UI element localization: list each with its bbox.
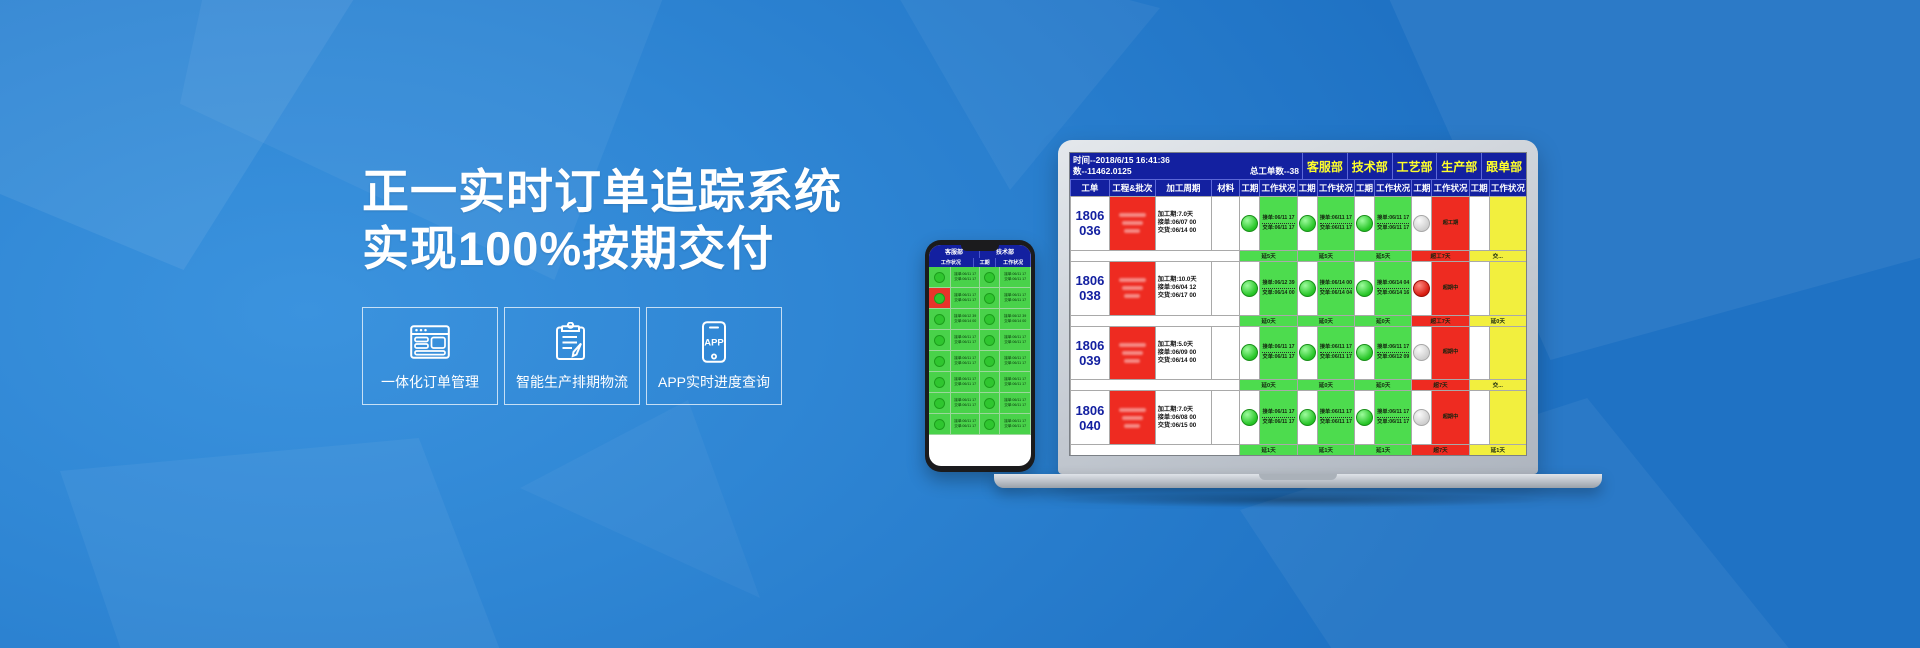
bg-polygon — [60, 438, 520, 648]
phone-status-text-cell: 接单:06/11 17交单:06/11 17 — [1000, 372, 1031, 392]
status-dot-green — [934, 419, 945, 430]
table-row-footer: 延5天延5天延5天超工7天交... — [1070, 250, 1526, 261]
work-status-cell: 接单:06/11 17交单:06/12 09 — [1374, 327, 1411, 380]
processing-cycle-cell: 加工期:5.0天接单:06/09 00交货:06/14 00 — [1155, 327, 1211, 380]
work-status-text: 接单:06/14 04交单:06/14 16 — [1375, 280, 1411, 297]
status-dot-green — [1356, 215, 1373, 232]
phone-status-dot-cell — [929, 393, 951, 413]
delay-summary-text: 交... — [1493, 252, 1503, 260]
delay-summary-text: 延5天 — [1261, 252, 1275, 260]
meta-count: 数--11462.0125 — [1073, 166, 1132, 177]
footer-spacer — [1070, 380, 1239, 390]
phone-row[interactable]: 接单:06/11 17交单:06/11 17接单:06/11 17交单:06/1… — [929, 267, 1031, 288]
column-title: 工作状况 — [1317, 179, 1354, 196]
work-status-text: 接单:06/11 17交单:06/11 17 — [1260, 215, 1296, 232]
work-status-cell: 接单:06/11 17交单:06/11 17 — [1317, 197, 1354, 250]
phone-status-dot-cell — [929, 288, 951, 308]
work-status-cell: 超期中 — [1431, 262, 1468, 315]
order-number-cell: 1806038 — [1070, 262, 1109, 315]
phone-status-dot-cell — [929, 267, 951, 287]
work-status-cell — [1489, 262, 1526, 315]
delay-summary-cell: 延1天 — [1239, 445, 1296, 455]
work-status-cell: 接单:06/14 04交单:06/14 16 — [1374, 262, 1411, 315]
phone-status-text-cell: 接单:06/12 39交单:06/14 00 — [1000, 309, 1031, 329]
work-status-text: 超工期 — [1432, 220, 1468, 227]
material-cell — [1211, 262, 1239, 315]
lead-time-cell — [1297, 262, 1317, 315]
phone-status-text-cell: 接单:06/11 17交单:06/11 17 — [1000, 330, 1031, 350]
lead-time-cell — [1239, 327, 1259, 380]
phone-status-text: 接单:06/11 17交单:06/11 17 — [1000, 356, 1030, 366]
status-dot-green — [1241, 344, 1258, 361]
lead-time-cell — [1411, 327, 1431, 380]
work-status-cell: 接单:06/11 17交单:06/11 17 — [1259, 327, 1296, 380]
bg-polygon — [520, 400, 760, 620]
phone-status-text-cell: 接单:06/11 17交单:06/11 17 — [1000, 351, 1031, 371]
status-dot-green — [1356, 344, 1373, 361]
work-status-cell: 接单:06/11 17交单:06/11 17 — [1317, 327, 1354, 380]
phone-status-text: 接单:06/11 17交单:06/11 17 — [1000, 272, 1030, 282]
phone-column-header: 工作状况 工期 工作状况 — [929, 258, 1031, 267]
department-title: 客服部 — [1302, 153, 1347, 179]
phone-status-text: 接单:06/11 17交单:06/11 17 — [1000, 377, 1030, 387]
delay-summary-text: 延1天 — [1491, 446, 1505, 454]
lead-time-cell — [1411, 391, 1431, 444]
column-title: 工期 — [1469, 179, 1489, 196]
lead-time-cell — [1411, 197, 1431, 250]
phone-status-dot-cell — [980, 414, 1000, 434]
lead-time-cell — [1411, 262, 1431, 315]
work-status-text: 超期中 — [1432, 285, 1468, 292]
status-dot-green — [984, 419, 995, 430]
work-status-text: 接单:06/11 17交单:06/11 17 — [1318, 344, 1354, 361]
delay-summary-text: 延0天 — [1491, 317, 1505, 325]
feature-label: APP实时进度查询 — [658, 372, 770, 392]
table-row[interactable]: 1806039加工期:5.0天接单:06/09 00交货:06/14 00接单:… — [1070, 326, 1526, 380]
processing-cycle-cell: 加工期:7.0天接单:06/07 00交货:06/14 00 — [1155, 197, 1211, 250]
column-title: 工作状况 — [1374, 179, 1411, 196]
delay-summary-text: 超7天 — [1433, 446, 1447, 454]
phone-status-dot-cell — [980, 351, 1000, 371]
work-status-cell — [1489, 391, 1526, 444]
work-status-cell: 接单:06/11 17交单:06/11 17 — [1259, 197, 1296, 250]
delay-summary-text: 超工7天 — [1431, 252, 1451, 260]
delay-summary-cell: 延0天 — [1239, 380, 1296, 390]
status-dot-grey — [1413, 409, 1430, 426]
lead-time-cell — [1354, 391, 1374, 444]
table-row-footer: 延0天延0天延0天超工7天延0天 — [1070, 315, 1526, 326]
laptop-base — [994, 474, 1602, 488]
work-status-text: 超期中 — [1432, 349, 1468, 356]
delay-summary-text: 延0天 — [1261, 317, 1275, 325]
phone-status-dot-cell — [929, 330, 951, 350]
delay-summary-text: 延5天 — [1376, 252, 1390, 260]
lead-time-cell — [1239, 197, 1259, 250]
table-row-footer: 延1天延1天延1天超7天延1天 — [1070, 444, 1526, 455]
work-status-text: 接单:06/14 00交单:06/14 04 — [1318, 280, 1354, 297]
delay-summary-text: 延1天 — [1376, 446, 1390, 454]
delay-summary-cell: 交... — [1469, 251, 1526, 261]
delay-summary-text: 延0天 — [1376, 317, 1390, 325]
material-cell — [1211, 391, 1239, 444]
delay-summary-cell: 超7天 — [1411, 445, 1468, 455]
feature-label: 一体化订单管理 — [381, 372, 479, 392]
phone-status-text-cell: 接单:06/12 39交单:06/14 00 — [951, 309, 980, 329]
status-dot-green — [984, 293, 995, 304]
delay-summary-cell: 延0天 — [1239, 316, 1296, 326]
delay-summary-text: 交... — [1493, 381, 1503, 389]
feature-card-app-progress[interactable]: APP APP实时进度查询 — [646, 307, 782, 405]
phone-screen[interactable]: 客服部 技术部 工作状况 工期 工作状况 接单:06/11 17交单:06/11… — [929, 245, 1031, 466]
status-dot-green — [984, 314, 995, 325]
phone-notch — [961, 244, 999, 251]
phone-col: 工期 — [974, 258, 996, 267]
feature-list: 一体化订单管理 智能生产排期物流 — [362, 307, 882, 405]
phone-status-dot-cell — [929, 351, 951, 371]
feature-label: 智能生产排期物流 — [516, 372, 628, 392]
dashboard-row-list: 1806036加工期:7.0天接单:06/07 00交货:06/14 00接单:… — [1070, 196, 1526, 455]
order-tracking-dashboard: 时间--2018/6/15 16:41:36 数--11462.0125 总工单… — [1070, 153, 1526, 455]
work-status-cell: 超工期 — [1431, 197, 1468, 250]
work-status-text: 接单:06/12 39交单:06/14 00 — [1260, 280, 1296, 297]
phone-status-dot-cell — [929, 372, 951, 392]
department-header-group: 客服部技术部工艺部生产部跟单部 — [1302, 153, 1526, 179]
work-status-cell: 接单:06/12 39交单:06/14 00 — [1259, 262, 1296, 315]
phone-status-dot-cell — [929, 414, 951, 434]
phone-status-text-cell: 接单:06/11 17交单:06/11 17 — [951, 330, 980, 350]
lead-time-cell — [1469, 327, 1489, 380]
headline-line-2: 实现100%按期交付 — [362, 222, 882, 275]
status-dot-green — [984, 377, 995, 388]
phone-status-dot-cell — [980, 393, 1000, 413]
lead-time-cell — [1354, 262, 1374, 315]
phone-status-text-cell: 接单:06/11 17交单:06/11 17 — [1000, 414, 1031, 434]
project-batch-cell — [1109, 197, 1155, 250]
status-dot-green — [934, 314, 945, 325]
delay-summary-cell: 延0天 — [1297, 316, 1354, 326]
processing-cycle-cell: 加工期:7.0天接单:06/08 00交货:06/15 00 — [1155, 391, 1211, 444]
phone-status-dot-cell — [980, 372, 1000, 392]
work-status-cell: 超期中 — [1431, 391, 1468, 444]
status-dot-grey — [1413, 344, 1430, 361]
work-status-text: 接单:06/11 17交单:06/11 17 — [1318, 409, 1354, 426]
phone-status-text: 接单:06/11 17交单:06/11 17 — [1000, 293, 1030, 303]
headline-line-1: 正一实时订单追踪系统 — [362, 165, 882, 218]
lead-time-cell — [1354, 327, 1374, 380]
work-status-cell: 接单:06/14 00交单:06/14 04 — [1317, 262, 1354, 315]
delay-summary-text: 延0天 — [1261, 381, 1275, 389]
status-dot-green — [1356, 409, 1373, 426]
column-title: 加工周期 — [1155, 179, 1211, 196]
delay-summary-text: 延1天 — [1319, 446, 1333, 454]
phone-status-text-cell: 接单:06/11 17交单:06/11 17 — [951, 267, 980, 287]
status-dot-green — [1299, 409, 1316, 426]
meta-time: 时间--2018/6/15 16:41:36 — [1073, 155, 1299, 166]
phone-row[interactable]: 接单:06/11 17交单:06/11 17接单:06/11 17交单:06/1… — [929, 351, 1031, 372]
status-dot-green — [934, 272, 945, 283]
phone-status-text-cell: 接单:06/11 17交单:06/11 17 — [951, 414, 980, 434]
phone-status-text-cell: 接单:06/11 17交单:06/11 17 — [1000, 288, 1031, 308]
feature-card-order-management[interactable]: 一体化订单管理 — [362, 307, 498, 405]
department-title: 跟单部 — [1481, 153, 1526, 179]
lead-time-cell — [1239, 262, 1259, 315]
phone-status-text: 接单:06/11 17交单:06/11 17 — [951, 398, 979, 408]
status-dot-green — [1299, 344, 1316, 361]
laptop-mockup: 时间--2018/6/15 16:41:36 数--11462.0125 总工单… — [1058, 140, 1602, 488]
phone-row[interactable]: 接单:06/11 17交单:06/11 17接单:06/11 17交单:06/1… — [929, 288, 1031, 309]
work-status-text: 接单:06/11 17交单:06/11 17 — [1375, 215, 1411, 232]
project-batch-cell — [1109, 327, 1155, 380]
meta-total: 总工单数--38 — [1250, 166, 1299, 177]
phone-status-text-cell: 接单:06/11 17交单:06/11 17 — [1000, 267, 1031, 287]
banner-copy: 正一实时订单追踪系统 实现100%按期交付 — [362, 165, 882, 405]
lead-time-cell — [1297, 391, 1317, 444]
footer-spacer — [1070, 316, 1239, 326]
phone-status-text: 接单:06/12 39交单:06/14 00 — [1000, 314, 1030, 324]
laptop-screen[interactable]: 时间--2018/6/15 16:41:36 数--11462.0125 总工单… — [1069, 152, 1527, 456]
column-title: 工程&批次 — [1109, 179, 1155, 196]
delay-summary-cell: 延0天 — [1354, 316, 1411, 326]
status-dot-green — [1241, 215, 1258, 232]
phone-status-text: 接单:06/11 17交单:06/11 17 — [1000, 419, 1030, 429]
phone-col: 工作状况 — [929, 258, 974, 267]
table-row[interactable]: 1806040加工期:7.0天接单:06/08 00交货:06/15 00接单:… — [1070, 390, 1526, 444]
lead-time-cell — [1469, 197, 1489, 250]
phone-row[interactable]: 接单:06/11 17交单:06/11 17接单:06/11 17交单:06/1… — [929, 330, 1031, 351]
work-status-text: 接单:06/11 17交单:06/11 17 — [1318, 215, 1354, 232]
work-status-text: 接单:06/11 17交单:06/11 17 — [1375, 409, 1411, 426]
work-status-text: 接单:06/11 17交单:06/11 17 — [1260, 344, 1296, 361]
lead-time-cell — [1297, 327, 1317, 380]
order-number-cell: 1806039 — [1070, 327, 1109, 380]
delay-summary-cell: 延0天 — [1297, 380, 1354, 390]
phone-status-text: 接单:06/12 39交单:06/14 00 — [951, 314, 979, 324]
phone-status-dot-cell — [980, 330, 1000, 350]
phone-status-dot-cell — [929, 309, 951, 329]
status-dot-green — [1299, 215, 1316, 232]
material-cell — [1211, 197, 1239, 250]
status-dot-green — [934, 377, 945, 388]
project-batch-cell — [1109, 262, 1155, 315]
delay-summary-cell: 延1天 — [1354, 445, 1411, 455]
column-title: 工作状况 — [1259, 179, 1296, 196]
work-status-cell: 接单:06/11 17交单:06/11 17 — [1374, 391, 1411, 444]
dashboard-column-header: 工单工程&批次加工周期材料工期工作状况工期工作状况工期工作状况工期工作状况工期工… — [1070, 179, 1526, 196]
status-dot-green — [934, 293, 945, 304]
lead-time-cell — [1239, 391, 1259, 444]
status-dot-green — [934, 356, 945, 367]
laptop-lid: 时间--2018/6/15 16:41:36 数--11462.0125 总工单… — [1058, 140, 1538, 474]
dashboard-header: 时间--2018/6/15 16:41:36 数--11462.0125 总工单… — [1070, 153, 1526, 179]
promo-banner: 正一实时订单追踪系统 实现100%按期交付 — [0, 0, 1920, 648]
delay-summary-text: 超7天 — [1433, 381, 1447, 389]
footer-spacer — [1070, 445, 1239, 455]
phone-status-text: 接单:06/11 17交单:06/11 17 — [1000, 335, 1030, 345]
mobile-app-icon: APP — [699, 320, 729, 364]
work-status-cell: 超期中 — [1431, 327, 1468, 380]
phone-status-text-cell: 接单:06/11 17交单:06/11 17 — [951, 393, 980, 413]
status-dot-green — [984, 356, 995, 367]
status-dot-green — [934, 398, 945, 409]
work-status-cell: 接单:06/11 17交单:06/11 17 — [1259, 391, 1296, 444]
phone-status-text: 接单:06/11 17交单:06/11 17 — [951, 356, 979, 366]
lead-time-cell — [1297, 197, 1317, 250]
phone-status-text: 接单:06/11 17交单:06/11 17 — [951, 272, 979, 282]
status-dot-green — [1241, 409, 1258, 426]
phone-status-dot-cell — [980, 267, 1000, 287]
work-status-text: 超期中 — [1432, 414, 1468, 421]
work-status-text: 接单:06/11 17交单:06/12 09 — [1375, 344, 1411, 361]
status-dot-green — [934, 335, 945, 346]
phone-col: 工作状况 — [996, 258, 1031, 267]
feature-card-production-schedule[interactable]: 智能生产排期物流 — [504, 307, 640, 405]
order-number-cell: 1806036 — [1070, 197, 1109, 250]
lead-time-cell — [1469, 262, 1489, 315]
laptop-shadow — [1050, 492, 1550, 508]
delay-summary-cell: 延5天 — [1297, 251, 1354, 261]
work-status-cell: 接单:06/11 17交单:06/11 17 — [1317, 391, 1354, 444]
lead-time-cell — [1354, 197, 1374, 250]
phone-status-text: 接单:06/11 17交单:06/11 17 — [951, 419, 979, 429]
phone-status-text-cell: 接单:06/11 17交单:06/11 17 — [951, 288, 980, 308]
work-status-cell — [1489, 197, 1526, 250]
table-row[interactable]: 1806038加工期:10.0天接单:06/04 12交货:06/17 00接单… — [1070, 261, 1526, 315]
column-title: 工作状况 — [1489, 179, 1526, 196]
department-title: 生产部 — [1436, 153, 1481, 179]
delay-summary-text: 延1天 — [1261, 446, 1275, 454]
work-status-text: 接单:06/11 17交单:06/11 17 — [1260, 409, 1296, 426]
phone-status-text: 接单:06/11 17交单:06/11 17 — [951, 377, 979, 387]
column-title: 工期 — [1239, 179, 1259, 196]
smartphone-mockup: 客服部 技术部 工作状况 工期 工作状况 接单:06/11 17交单:06/11… — [925, 240, 1035, 472]
dashboard-meta: 时间--2018/6/15 16:41:36 数--11462.0125 总工单… — [1070, 153, 1302, 179]
column-title: 工作状况 — [1431, 179, 1468, 196]
table-row-footer: 延0天延0天延0天超7天交... — [1070, 379, 1526, 390]
column-title: 材料 — [1211, 179, 1239, 196]
status-dot-green — [1299, 280, 1316, 297]
column-title: 工期 — [1297, 179, 1317, 196]
processing-cycle-cell: 加工期:10.0天接单:06/04 12交货:06/17 00 — [1155, 262, 1211, 315]
phone-status-dot-cell — [980, 288, 1000, 308]
phone-row[interactable]: 接单:06/12 39交单:06/14 00接单:06/12 39交单:06/1… — [929, 309, 1031, 330]
delay-summary-cell: 延5天 — [1239, 251, 1296, 261]
delay-summary-text: 延0天 — [1376, 381, 1390, 389]
phone-status-text-cell: 接单:06/11 17交单:06/11 17 — [951, 351, 980, 371]
column-title: 工单 — [1070, 179, 1109, 196]
phone-status-dot-cell — [980, 309, 1000, 329]
delay-summary-text: 延0天 — [1319, 317, 1333, 325]
status-dot-green — [984, 272, 995, 283]
project-batch-cell — [1109, 391, 1155, 444]
status-dot-green — [984, 398, 995, 409]
material-cell — [1211, 327, 1239, 380]
footer-spacer — [1070, 251, 1239, 261]
status-dot-grey — [1413, 215, 1430, 232]
status-dot-green — [1356, 280, 1373, 297]
table-row[interactable]: 1806036加工期:7.0天接单:06/07 00交货:06/14 00接单:… — [1070, 196, 1526, 250]
delay-summary-cell: 延0天 — [1469, 316, 1526, 326]
delay-summary-cell: 延1天 — [1297, 445, 1354, 455]
delay-summary-cell: 超工7天 — [1411, 316, 1468, 326]
delay-summary-cell: 超7天 — [1411, 380, 1468, 390]
app-icon-text: APP — [704, 338, 724, 349]
delay-summary-text: 延5天 — [1319, 252, 1333, 260]
phone-status-text: 接单:06/11 17交单:06/11 17 — [951, 335, 979, 345]
window-layout-icon — [410, 320, 450, 364]
delay-summary-text: 延0天 — [1319, 381, 1333, 389]
clipboard-edit-icon — [555, 320, 589, 364]
delay-summary-cell: 超工7天 — [1411, 251, 1468, 261]
delay-summary-cell: 延0天 — [1354, 380, 1411, 390]
status-dot-green — [984, 335, 995, 346]
order-number-cell: 1806040 — [1070, 391, 1109, 444]
phone-row-list: 接单:06/11 17交单:06/11 17接单:06/11 17交单:06/1… — [929, 267, 1031, 435]
phone-status-text: 接单:06/11 17交单:06/11 17 — [1000, 398, 1030, 408]
phone-status-text: 接单:06/11 17交单:06/11 17 — [951, 293, 979, 303]
delay-summary-cell: 交... — [1469, 380, 1526, 390]
delay-summary-cell: 延5天 — [1354, 251, 1411, 261]
phone-status-text-cell: 接单:06/11 17交单:06/11 17 — [1000, 393, 1031, 413]
phone-row[interactable]: 接单:06/11 17交单:06/11 17接单:06/11 17交单:06/1… — [929, 372, 1031, 393]
status-dot-green — [1241, 280, 1258, 297]
delay-summary-text: 超工7天 — [1431, 317, 1451, 325]
phone-status-text-cell: 接单:06/11 17交单:06/11 17 — [951, 372, 980, 392]
delay-summary-cell: 延1天 — [1469, 445, 1526, 455]
department-title: 工艺部 — [1392, 153, 1437, 179]
column-title: 工期 — [1411, 179, 1431, 196]
work-status-cell: 接单:06/11 17交单:06/11 17 — [1374, 197, 1411, 250]
lead-time-cell — [1469, 391, 1489, 444]
phone-row[interactable]: 接单:06/11 17交单:06/11 17接单:06/11 17交单:06/1… — [929, 393, 1031, 414]
column-title: 工期 — [1354, 179, 1374, 196]
phone-row[interactable]: 接单:06/11 17交单:06/11 17接单:06/11 17交单:06/1… — [929, 414, 1031, 435]
department-title: 技术部 — [1347, 153, 1392, 179]
work-status-cell — [1489, 327, 1526, 380]
status-dot-red — [1413, 280, 1430, 297]
